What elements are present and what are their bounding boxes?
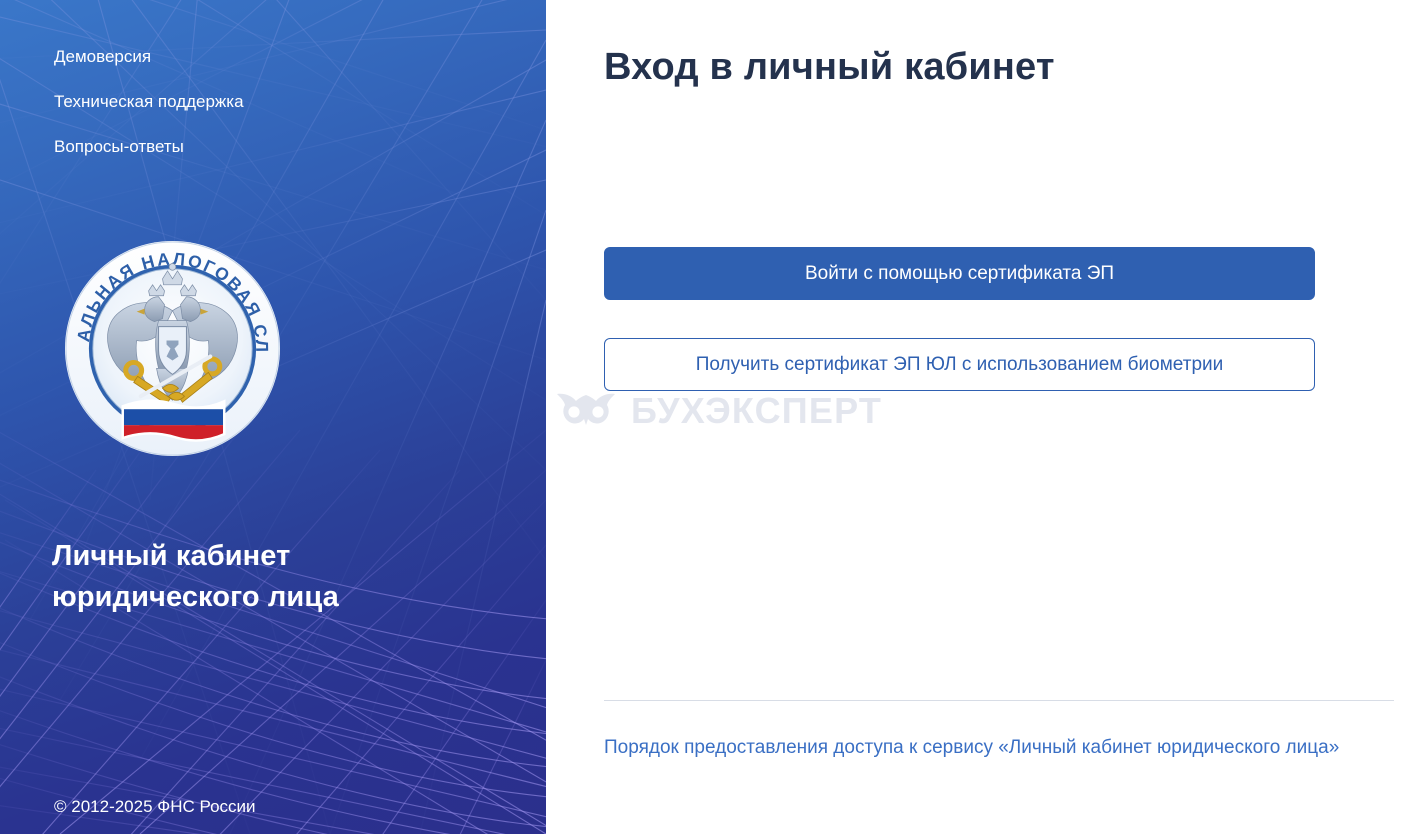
sidebar-title: Личный кабинет юридического лица xyxy=(52,536,472,618)
watermark: БУХЭКСПЕРТ xyxy=(555,392,882,430)
sidebar-title-line-2: юридического лица xyxy=(52,581,339,613)
sidebar: Демоверсия Техническая поддержка Вопросы… xyxy=(0,0,546,834)
nav-link-faq[interactable]: Вопросы-ответы xyxy=(54,136,244,158)
nav-link-support[interactable]: Техническая поддержка xyxy=(54,91,244,113)
get-certificate-biometrics-button[interactable]: Получить сертификат ЭП ЮЛ с использовани… xyxy=(604,338,1315,391)
access-procedure-link[interactable]: Порядок предоставления доступа к сервису… xyxy=(604,737,1339,759)
login-page: Демоверсия Техническая поддержка Вопросы… xyxy=(0,0,1428,834)
nav-link-demo[interactable]: Демоверсия xyxy=(54,46,244,68)
owl-icon xyxy=(555,392,617,430)
sidebar-nav: Демоверсия Техническая поддержка Вопросы… xyxy=(54,46,244,158)
copyright-text: © 2012-2025 ФНС России xyxy=(54,796,256,818)
watermark-text: БУХЭКСПЕРТ xyxy=(631,393,882,429)
page-title: Вход в личный кабинет xyxy=(604,46,1055,89)
main-content: Вход в личный кабинет Войти с помощью се… xyxy=(546,0,1428,834)
fns-emblem-icon: ФЕДЕРАЛЬНАЯ НАЛОГОВАЯ СЛУЖБА xyxy=(63,239,282,458)
sidebar-title-line-1: Личный кабинет xyxy=(52,540,290,572)
footer-divider xyxy=(604,700,1394,701)
login-with-certificate-button[interactable]: Войти с помощью сертификата ЭП xyxy=(604,247,1315,300)
